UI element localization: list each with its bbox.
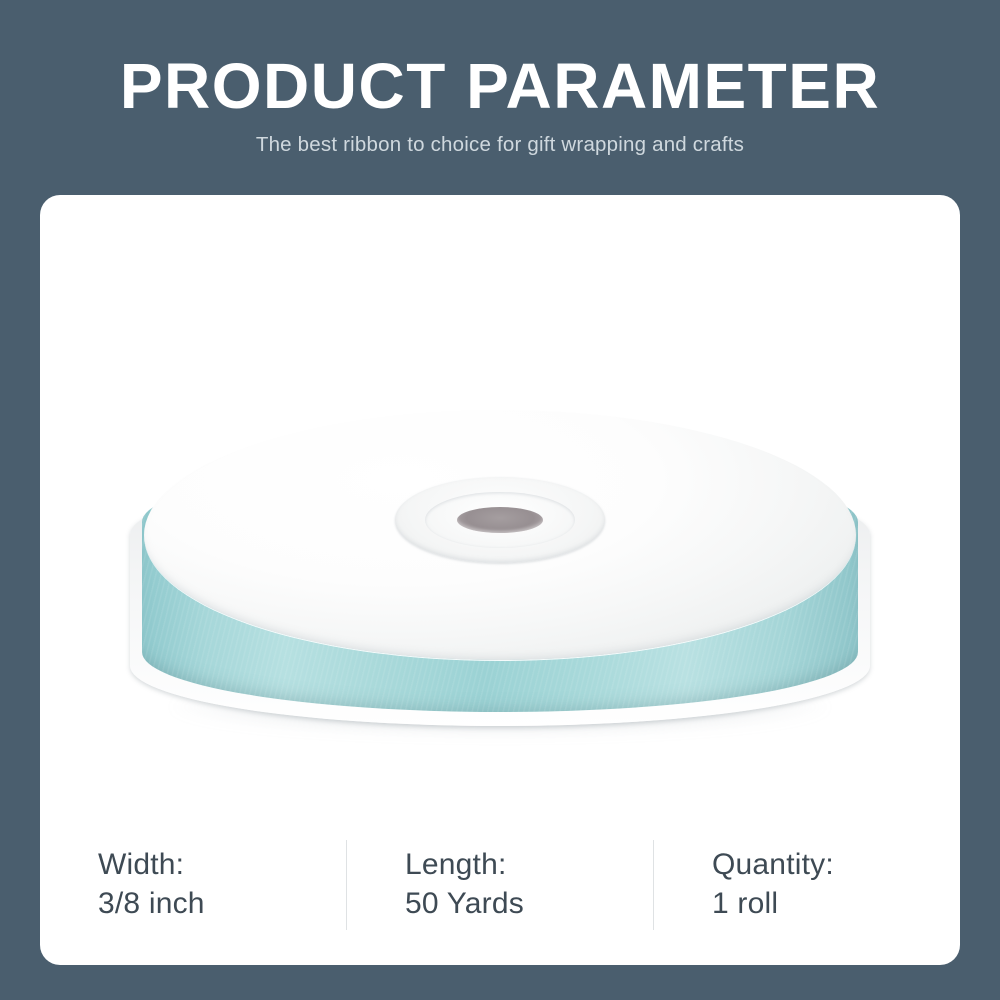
- spec-value-length: 50 Yards: [405, 884, 653, 924]
- spec-label-width: Width:: [98, 846, 346, 884]
- spool-top-flange: [144, 410, 856, 660]
- product-card: Width: 3/8 inch Length: 50 Yards Quantit…: [40, 195, 960, 965]
- spec-label-length: Length:: [405, 846, 653, 884]
- ribbon-spool-image: [100, 410, 900, 750]
- spec-label-quantity: Quantity:: [712, 846, 960, 884]
- page-title: PRODUCT PARAMETER: [0, 52, 1000, 120]
- product-image-area: [40, 195, 960, 805]
- spec-value-width: 3/8 inch: [98, 884, 346, 924]
- spec-item-width: Width: 3/8 inch: [40, 840, 346, 930]
- spec-item-length: Length: 50 Yards: [346, 840, 653, 930]
- page-subtitle: The best ribbon to choice for gift wrapp…: [0, 132, 1000, 158]
- spool-hub-outer-ring: [395, 477, 605, 563]
- spec-item-quantity: Quantity: 1 roll: [653, 840, 960, 930]
- spool-center-hole: [457, 507, 543, 533]
- spec-value-quantity: 1 roll: [712, 884, 960, 924]
- specification-row: Width: 3/8 inch Length: 50 Yards Quantit…: [40, 805, 960, 965]
- page-header: PRODUCT PARAMETER The best ribbon to cho…: [0, 0, 1000, 195]
- spool-hub-inner-ring: [425, 492, 575, 548]
